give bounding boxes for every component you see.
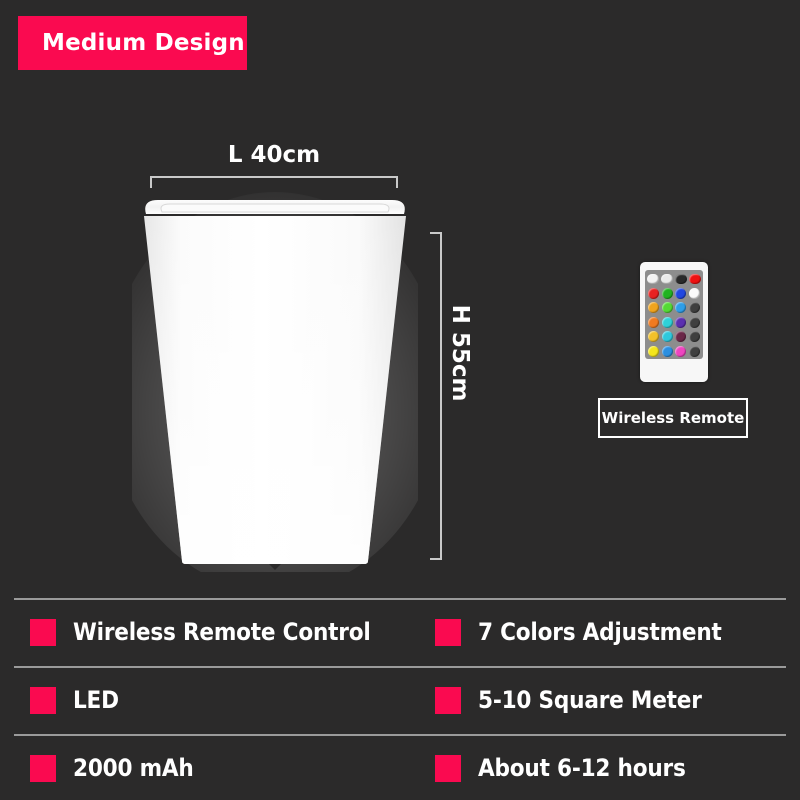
color-skyblue-button [675,302,686,313]
color-white-button [689,288,700,299]
feature-list: Wireless Remote Control 7 Colors Adjustm… [0,598,800,800]
color-red-button [648,288,659,299]
power-on-button [689,274,701,284]
remote-keypad [645,270,703,359]
bullet-square-icon [435,755,461,782]
bullet-square-icon [30,619,56,646]
color-plum-button [675,331,686,342]
power-off-button [675,274,687,284]
planter-illustration [132,192,418,572]
brightness-up-button [647,274,659,284]
function-smooth-button [689,346,700,357]
planter-body-sheen [144,216,406,564]
feature-label: 2000 mAh [73,754,194,782]
wireless-remote-image [640,262,708,382]
remote-caption-label: Wireless Remote [602,409,745,427]
feature-label: Wireless Remote Control [73,618,371,646]
height-dimension-label: H 55cm [447,293,473,413]
color-turquoise-button [662,331,673,342]
feature-label: LED [73,686,119,714]
width-dimension-label: L 40cm [150,142,398,168]
product-infographic: Medium Design L 40cm [0,0,800,800]
feature-item-battery-capacity: 2000 mAh [0,734,430,800]
height-dimension-bracket [430,232,442,560]
color-violet-button [675,317,686,328]
color-azure-button [662,346,673,357]
color-orange-button [648,302,659,313]
feature-item-7-colors-adjustment: 7 Colors Adjustment [430,598,800,666]
color-amber-button [648,331,659,342]
remote-button-grid [647,272,701,357]
badge-medium-design: Medium Design [18,16,247,70]
bullet-square-icon [435,619,461,646]
function-flash-button [689,302,700,313]
color-pink-button [675,346,686,357]
bullet-square-icon [435,687,461,714]
feature-item-wireless-remote-control: Wireless Remote Control [0,598,430,666]
feature-label: 5-10 Square Meter [478,686,702,714]
feature-label: About 6-12 hours [478,754,686,782]
feature-item-coverage-area: 5-10 Square Meter [430,666,800,734]
color-darkorange-button [648,317,659,328]
width-dimension-bracket [150,176,398,188]
function-fade-button [689,331,700,342]
color-lime-button [662,302,673,313]
color-green-button [662,288,673,299]
brightness-down-button [661,274,673,284]
color-blue-button [675,288,686,299]
badge-label: Medium Design [42,30,245,56]
feature-item-runtime: About 6-12 hours [430,734,800,800]
feature-row: Wireless Remote Control 7 Colors Adjustm… [0,598,800,666]
remote-caption-box: Wireless Remote [598,398,748,438]
feature-row: 2000 mAh About 6-12 hours [0,734,800,800]
planter-rim-inner [161,204,389,212]
bullet-square-icon [30,755,56,782]
color-yellow-button [648,346,659,357]
feature-item-led: LED [0,666,430,734]
planter-graphic [132,192,418,572]
feature-label: 7 Colors Adjustment [478,618,722,646]
bullet-square-icon [30,687,56,714]
function-strobe-button [689,317,700,328]
feature-row: LED 5-10 Square Meter [0,666,800,734]
color-cyan-button [662,317,673,328]
